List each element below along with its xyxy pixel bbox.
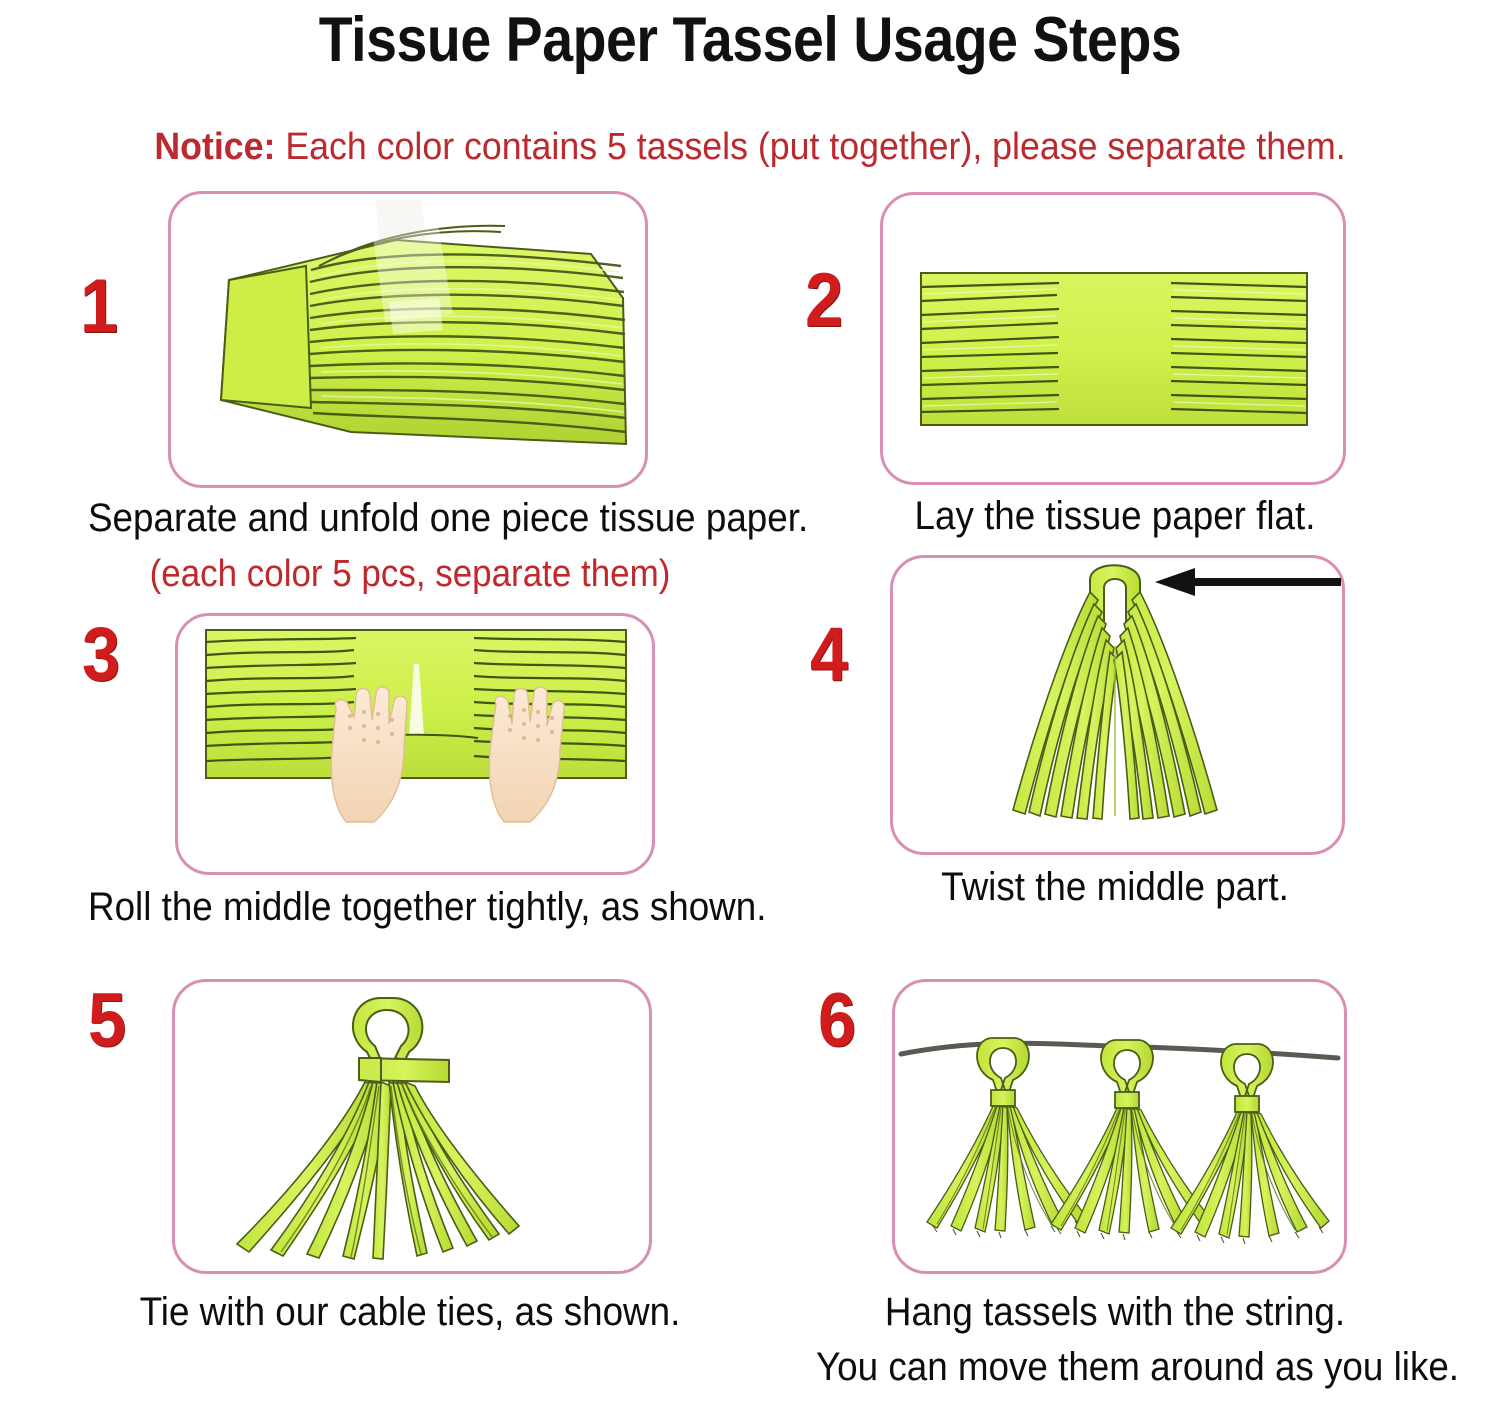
instruction-poster: Tissue Paper Tassel Usage Steps Notice: … xyxy=(0,0,1500,1404)
step-3-caption: Roll the middle together tightly, as sho… xyxy=(88,885,732,930)
step-4-panel xyxy=(890,555,1345,855)
pointing-arrow xyxy=(1155,568,1341,596)
step-number-1: 1 xyxy=(80,269,118,345)
step-6-caption: Hang tassels with the string. xyxy=(816,1290,1414,1335)
step-number-3: 3 xyxy=(82,617,120,693)
notice-label: Notice: xyxy=(154,126,275,168)
twisted-tassel-illustration xyxy=(893,558,1342,852)
step-6-panel xyxy=(892,979,1347,1274)
steps-row-1: 1 xyxy=(0,191,1500,601)
step-6-subcaption: You can move them around as you like. xyxy=(816,1345,1414,1390)
step-number-2: 2 xyxy=(805,263,843,339)
left-hand xyxy=(331,687,407,822)
tied-tassel-illustration xyxy=(175,982,649,1271)
three-tassels-on-string-illustration xyxy=(895,982,1344,1271)
hands-rolling-middle-illustration xyxy=(178,616,652,872)
steps-row-3: 5 xyxy=(0,935,1500,1395)
fringed-tissue-sheet-folded-illustration xyxy=(171,194,645,485)
step-4-caption: Twist the middle part. xyxy=(816,865,1414,910)
step-5-panel xyxy=(172,979,652,1274)
step-3-panel xyxy=(175,613,655,875)
step-1-panel xyxy=(168,191,648,488)
step-number-4: 4 xyxy=(810,617,848,693)
step-2-caption: Lay the tissue paper flat. xyxy=(816,494,1414,539)
fringed-tissue-sheet-flat-illustration xyxy=(883,195,1343,482)
notice-text: Each color contains 5 tassels (put toget… xyxy=(275,126,1345,168)
notice-line: Notice: Each color contains 5 tassels (p… xyxy=(45,126,1455,169)
step-number-5: 5 xyxy=(88,983,126,1059)
right-hand xyxy=(489,687,564,822)
step-number-6: 6 xyxy=(818,983,856,1059)
step-5-caption: Tie with our cable ties, as shown. xyxy=(88,1290,732,1335)
page-title: Tissue Paper Tassel Usage Steps xyxy=(90,4,1410,76)
step-2-panel xyxy=(880,192,1346,485)
steps-row-2: 3 xyxy=(0,555,1500,935)
step-1-caption: Separate and unfold one piece tissue pap… xyxy=(88,496,732,541)
